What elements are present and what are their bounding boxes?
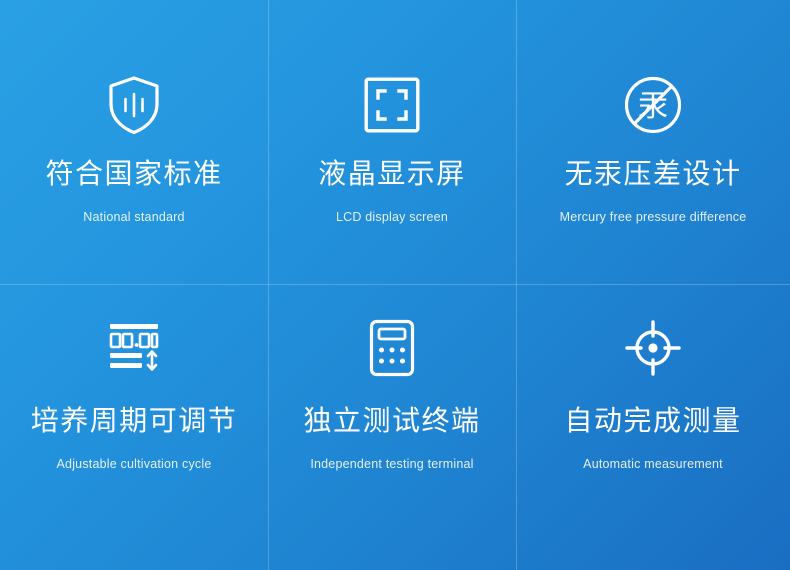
feature-title-en: National standard [83, 211, 184, 224]
feature-grid: 符合国家标准 National standard 液晶显示屏 LCD displ… [0, 0, 790, 570]
feature-cell-national-standard[interactable]: 符合国家标准 National standard [0, 0, 268, 284]
feature-title-en: Mercury free pressure difference [560, 211, 747, 224]
feature-title-cn: 培养周期可调节 [31, 407, 238, 435]
feature-row-top: 符合国家标准 National standard 液晶显示屏 LCD displ… [0, 0, 790, 284]
feature-title-cn: 自动完成测量 [564, 407, 741, 435]
calculator-icon [369, 317, 415, 379]
feature-title-en: Automatic measurement [583, 458, 723, 471]
mercury-free-icon: 汞 [623, 74, 683, 136]
feature-cell-lcd-display[interactable]: 液晶显示屏 LCD display screen [268, 0, 516, 284]
feature-title-en: Independent testing terminal [310, 458, 473, 471]
feature-title-en: Adjustable cultivation cycle [57, 458, 212, 471]
shield-icon [105, 74, 163, 136]
feature-title-cn: 符合国家标准 [45, 160, 222, 188]
feature-cell-testing-terminal[interactable]: 独立测试终端 Independent testing terminal [268, 285, 516, 569]
feature-title-cn: 液晶显示屏 [318, 160, 466, 188]
feature-cell-adjustable-cycle[interactable]: 培养周期可调节 Adjustable cultivation cycle [0, 285, 268, 569]
feature-cell-automatic-measurement[interactable]: 自动完成测量 Automatic measurement [516, 285, 790, 569]
feature-title-cn: 独立测试终端 [303, 407, 480, 435]
feature-cell-mercury-free[interactable]: 汞 无汞压差设计 Mercury free pressure differenc… [516, 0, 790, 284]
feature-title-cn: 无汞压差设计 [564, 160, 741, 188]
lcd-screen-icon [363, 74, 421, 136]
feature-row-bottom: 培养周期可调节 Adjustable cultivation cycle 独立测… [0, 285, 790, 569]
crosshair-target-icon [625, 317, 681, 379]
feature-title-en: LCD display screen [336, 211, 448, 224]
adjustable-cycle-icon [106, 317, 162, 379]
